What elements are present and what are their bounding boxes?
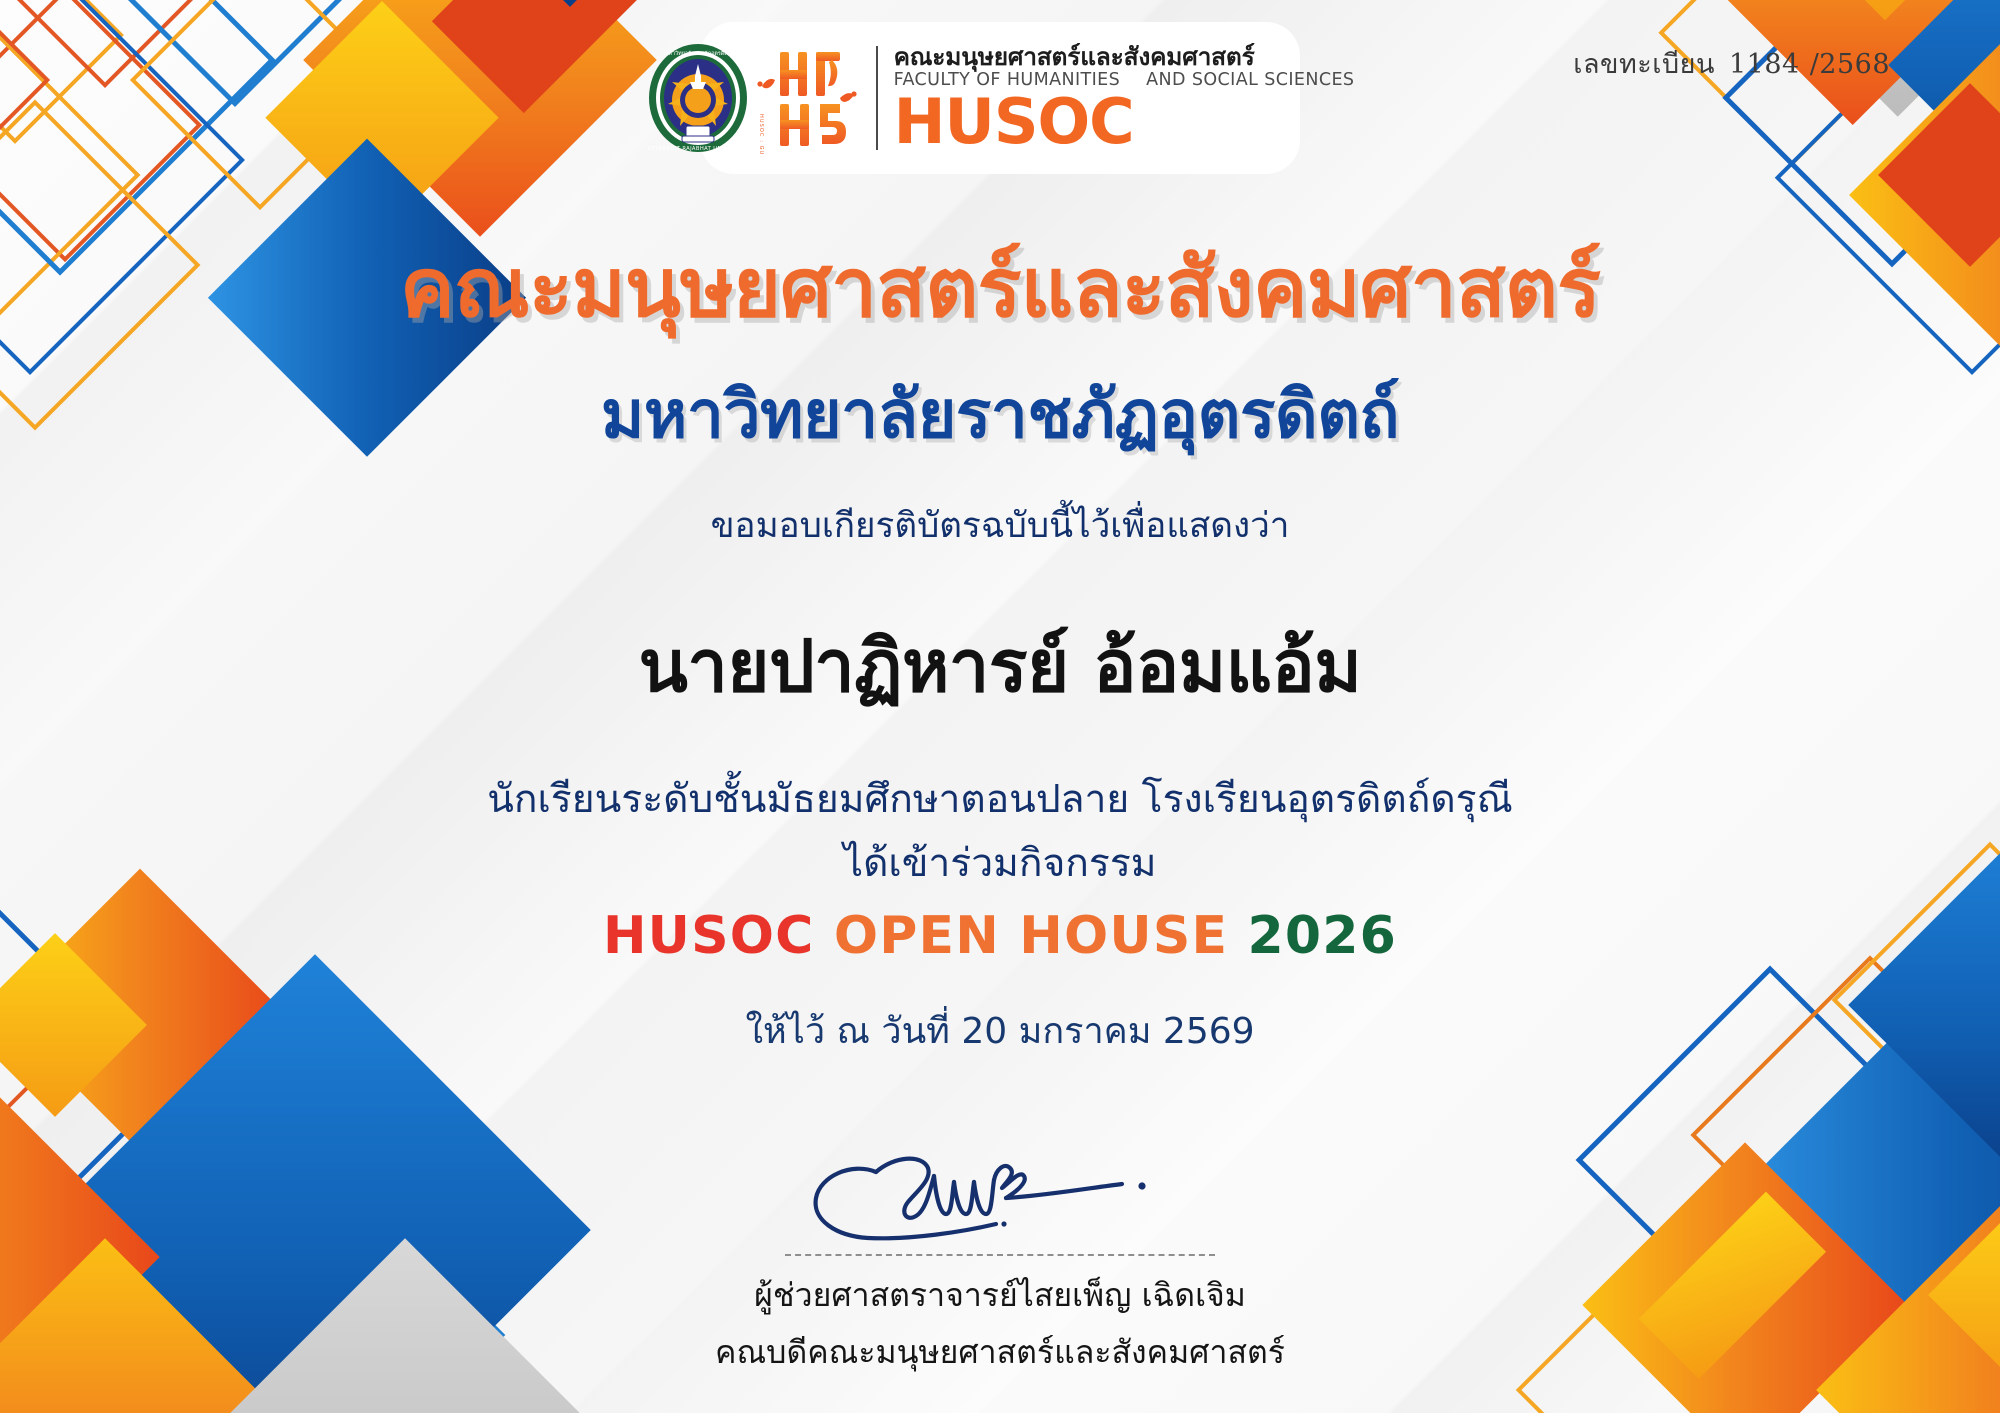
logo-wordmark: HUSOC (894, 92, 1355, 152)
registration-year: /2568 (1810, 49, 1890, 80)
certificate-subtitle: ขอมอบเกียรติบัตรฉบับนี้ไว้เพื่อแสดงว่า (0, 498, 2000, 553)
page-title-line1: คณะมนุษยศาสตร์และสังคมศาสตร์ (0, 248, 2000, 330)
logo-faculty-th: คณะมนุษยศาสตร์และสังคมศาสตร์ (894, 44, 1355, 70)
event-title-part3: 2026 (1248, 906, 1398, 966)
issue-date: ให้ไว้ ณ วันที่ 20 มกราคม 2569 (0, 1002, 2000, 1059)
svg-text:HUSOC : GURU: HUSOC : GURU (758, 114, 764, 154)
svg-text:UTTARADIT RAJABHAT UNIVERSITY: UTTARADIT RAJABHAT UNIVERSITY (647, 146, 748, 152)
logo-divider (876, 46, 878, 150)
signature-image (790, 1140, 1210, 1250)
logo-faculty-en-right: AND SOCIAL SCIENCES (1146, 70, 1354, 90)
recipient-name: นายปาฏิหารย์ อ้อมแอ้ม (0, 608, 2000, 723)
event-title: HUSOC OPEN HOUSE 2026 (0, 906, 2000, 966)
page-title-line2: มหาวิทยาลัยราชภัฏอุตรดิตถ์ (0, 382, 2000, 448)
recipient-description: นักเรียนระดับชั้นมัธยมศึกษาตอนปลาย โรงเร… (0, 768, 2000, 830)
logo-lockup: มหาวิทยาลัยราชภัฏอุตรดิตถ์ UTTARADIT RAJ… (700, 22, 1300, 174)
svg-text:มหาวิทยาลัยราชภัฏอุตรดิตถ์: มหาวิทยาลัยราชภัฏอุตรดิตถ์ (665, 50, 731, 57)
signature-rule (785, 1254, 1215, 1256)
signer-name: ผู้ช่วยศาสตราจารย์ไสยเพ็ญ เฉิดเจิม (690, 1270, 1310, 1321)
signer-role: คณบดีคณะมนุษยศาสตร์และสังคมศาสตร์ (690, 1327, 1310, 1378)
participation-statement: ได้เข้าร่วมกิจกรรม (0, 832, 2000, 894)
registration-label: เลขทะเบียน (1573, 49, 1715, 80)
registration-value: 1184 (1729, 49, 1800, 80)
husoc-guru-mark-icon: HUSOC : GURU (754, 42, 866, 154)
certificate-canvas: เลขทะเบียน1184/2568 (0, 0, 2000, 1413)
signature-block: ผู้ช่วยศาสตราจารย์ไสยเพ็ญ เฉิดเจิม คณบดี… (690, 1140, 1310, 1378)
university-seal-icon: มหาวิทยาลัยราชภัฏอุตรดิตถ์ UTTARADIT RAJ… (646, 42, 750, 154)
event-title-part1: HUSOC (603, 906, 815, 966)
event-title-part2: OPEN HOUSE (834, 906, 1228, 966)
registration-number: เลขทะเบียน1184/2568 (1573, 42, 1890, 85)
logo-text-block: คณะมนุษยศาสตร์และสังคมศาสตร์ FACULTY OF … (894, 44, 1355, 151)
